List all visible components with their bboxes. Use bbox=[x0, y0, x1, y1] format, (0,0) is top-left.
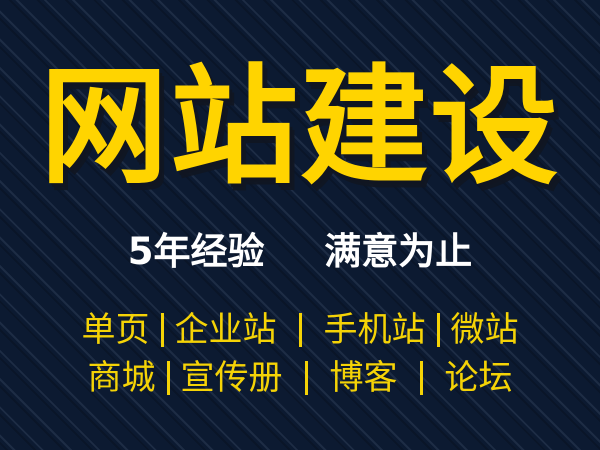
service-item-brochure[interactable]: 宣传册 bbox=[179, 361, 285, 395]
service-item-blog[interactable]: 博客 bbox=[328, 361, 400, 395]
headline-title: 网站建设 bbox=[0, 64, 600, 192]
service-item-mall[interactable]: 商城 bbox=[86, 361, 158, 395]
service-separator-icon bbox=[299, 313, 302, 347]
service-item-enterprise-site[interactable]: 企业站 bbox=[173, 313, 279, 347]
service-row-1: 单页 企业站 手机站 微站 bbox=[0, 306, 600, 354]
service-separator-icon bbox=[437, 313, 440, 347]
service-separator-icon bbox=[305, 361, 308, 395]
service-item-forum[interactable]: 论坛 bbox=[443, 361, 515, 395]
service-separator-icon bbox=[420, 361, 423, 395]
service-separator-icon bbox=[161, 313, 164, 347]
service-item-single-page[interactable]: 单页 bbox=[80, 313, 152, 347]
service-separator-icon bbox=[167, 361, 170, 395]
subtitle-satisfaction: 满意为止 bbox=[324, 230, 472, 273]
service-item-mobile-site[interactable]: 手机站 bbox=[322, 313, 428, 347]
poster-content: 网站建设 5年经验 满意为止 单页 企业站 手机站 微站 商城 宣传册 bbox=[0, 0, 600, 450]
service-item-micro-site[interactable]: 微站 bbox=[449, 313, 521, 347]
promo-poster: 网站建设 5年经验 满意为止 单页 企业站 手机站 微站 商城 宣传册 bbox=[0, 0, 600, 450]
subtitle-line: 5年经验 满意为止 bbox=[0, 233, 600, 270]
service-list: 单页 企业站 手机站 微站 商城 宣传册 博客 论坛 bbox=[0, 306, 600, 402]
subtitle-experience: 5年经验 bbox=[128, 230, 265, 273]
service-row-2: 商城 宣传册 博客 论坛 bbox=[0, 354, 600, 402]
